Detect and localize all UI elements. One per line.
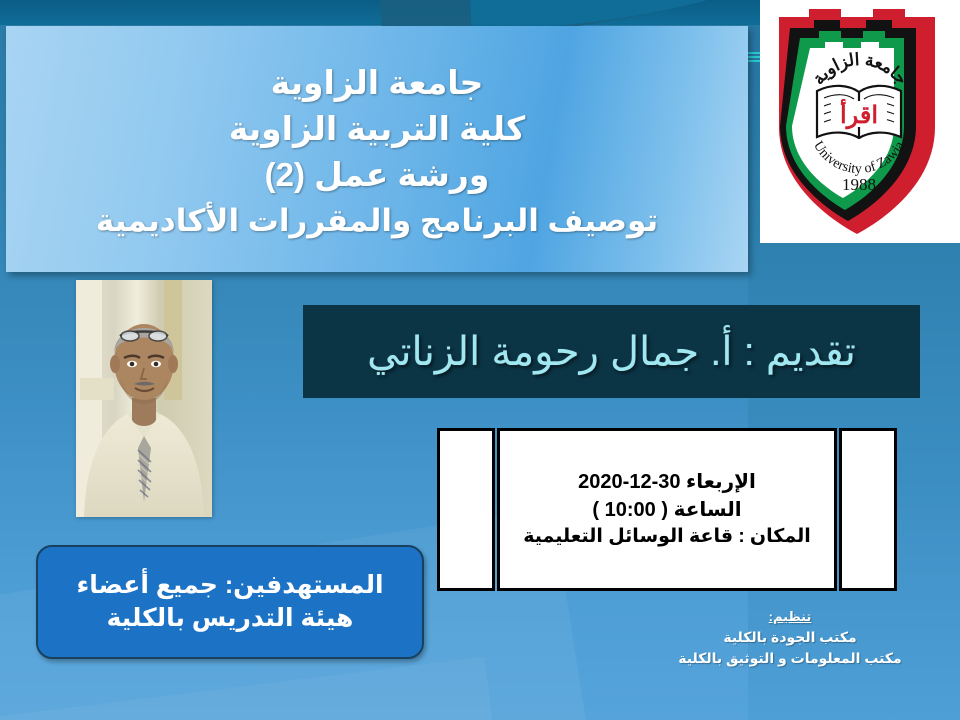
- title-card: جامعة الزاوية كلية التربية الزاوية ورشة …: [6, 26, 748, 272]
- university-logo-plate: جامعة الزاوية اقرأ University of Zawia 1…: [760, 0, 960, 243]
- title-line-faculty: كلية التربية الزاوية: [229, 106, 526, 152]
- event-details-table: الإربعاء 30-12-2020 الساعة ( 10:00 ) الم…: [437, 428, 897, 591]
- presenter-photo: [76, 280, 212, 517]
- crest-book-icon: اقرأ: [817, 86, 901, 138]
- title-line-subject: توصيف البرنامج والمقررات الأكاديمية: [96, 199, 658, 242]
- table-cell-left-spacer: [839, 428, 897, 591]
- event-place: المكان : قاعة الوسائل التعليمية: [523, 524, 810, 551]
- event-date: الإربعاء 30-12-2020: [578, 468, 756, 496]
- title-line-university: جامعة الزاوية: [271, 60, 484, 106]
- presenter-name: تقديم : أ. جمال رحومة الزناتي: [367, 329, 856, 375]
- crest-year: 1988: [842, 175, 876, 194]
- event-time: الساعة ( 10:00 ): [592, 496, 741, 524]
- audience-text: المستهدفين: جميع أعضاء هيئة التدريس بالك…: [54, 569, 406, 636]
- crest-book-word: اقرأ: [840, 97, 878, 130]
- organizers-block: تنظيم: مكتب الجودة بالكلية مكتب المعلوما…: [640, 607, 940, 670]
- table-cell-right-spacer: [437, 428, 495, 591]
- table-cell-details: الإربعاء 30-12-2020 الساعة ( 10:00 ) الم…: [497, 428, 837, 591]
- presenter-bar: تقديم : أ. جمال رحومة الزناتي: [303, 305, 920, 398]
- presenter-photo-image: [76, 280, 212, 517]
- slide-canvas: جامعة الزاوية كلية التربية الزاوية ورشة …: [0, 0, 960, 720]
- university-of-zawia-crest-icon: جامعة الزاوية اقرأ University of Zawia 1…: [771, 9, 949, 234]
- organizer-item-quality-office: مكتب الجودة بالكلية: [640, 627, 940, 649]
- title-line-workshop: ورشة عمل (2): [265, 152, 490, 198]
- organizer-item-info-office: مكتب المعلومات و التوثيق بالكلية: [640, 648, 940, 670]
- audience-callout: المستهدفين: جميع أعضاء هيئة التدريس بالك…: [36, 545, 424, 659]
- organizers-heading: تنظيم:: [640, 607, 940, 627]
